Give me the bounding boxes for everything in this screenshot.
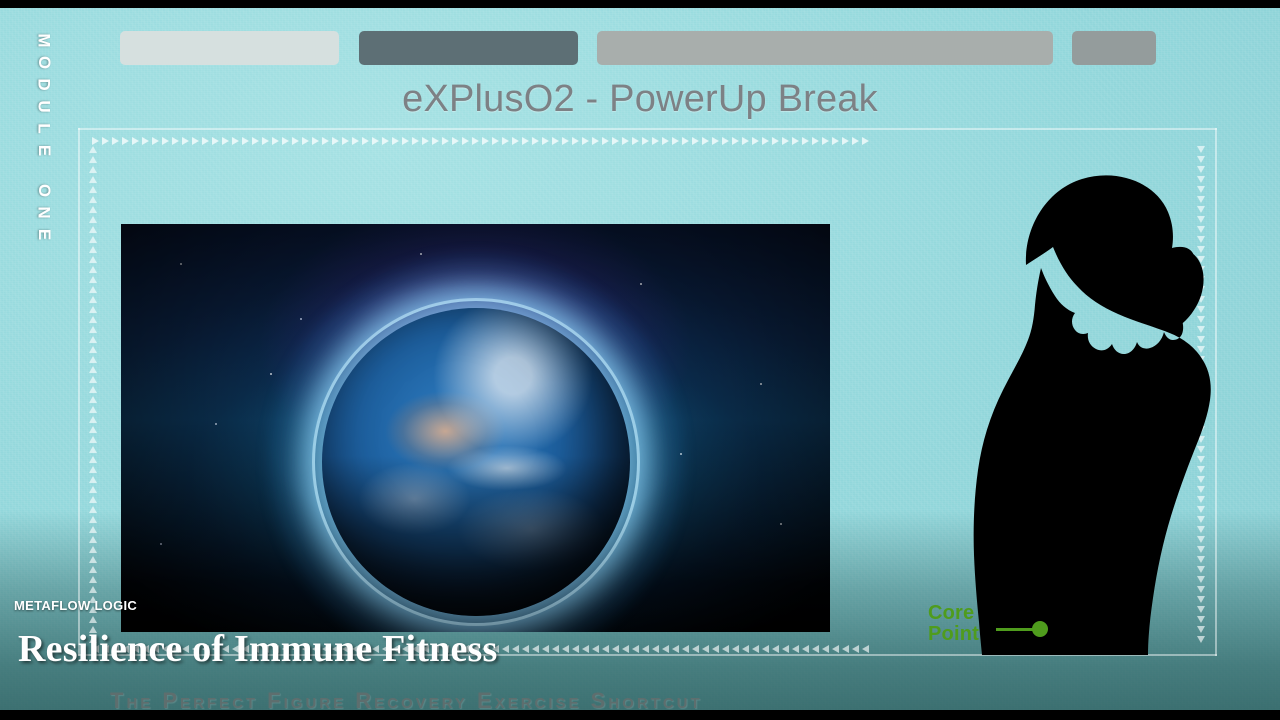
frame-triangle-icon [632,645,639,653]
frame-triangle-icon [89,226,97,233]
frame-triangle-icon [642,645,649,653]
frame-triangle-icon [89,466,97,473]
frame-triangle-icon [572,137,579,145]
frame-triangle-icon [322,137,329,145]
frame-triangle-icon [442,137,449,145]
frame-triangle-icon [492,137,499,145]
brand-name: METAFLOW LOGIC [14,598,137,613]
frame-triangle-icon [652,645,659,653]
frame-triangle-icon [452,137,459,145]
frame-triangle-icon [802,137,809,145]
frame-triangle-icon [232,137,239,145]
frame-triangle-icon [89,376,97,383]
letterbox-bottom [0,710,1280,720]
frame-triangle-icon [732,645,739,653]
frame-triangle-icon [192,137,199,145]
frame-triangle-icon [672,137,679,145]
video-vignette [121,224,830,632]
frame-triangle-icon [252,137,259,145]
frame-triangle-icon [282,137,289,145]
frame-triangle-icon [772,137,779,145]
frame-triangle-icon [532,645,539,653]
frame-triangle-icon [712,137,719,145]
module-label-letter: E [33,229,55,241]
frame-triangle-icon [612,645,619,653]
frame-triangle-icon [89,476,97,483]
frame-triangle-icon [92,137,99,145]
module-label-letter: N [33,206,55,219]
frame-triangle-icon [152,137,159,145]
frame-triangle-icon [89,386,97,393]
frame-triangle-icon [132,137,139,145]
frame-triangle-icon [482,137,489,145]
frame-triangle-icon [89,536,97,543]
frame-line-left [78,128,80,656]
frame-triangle-icon [272,137,279,145]
frame-triangle-icon [89,616,97,623]
frame-triangle-icon [542,137,549,145]
frame-triangle-icon [562,645,569,653]
frame-triangle-icon [702,137,709,145]
frame-triangle-icon [862,137,869,145]
frame-triangle-icon [612,137,619,145]
frame-triangle-icon [89,266,97,273]
frame-triangle-icon [532,137,539,145]
frame-triangle-icon [632,137,639,145]
frame-triangle-icon [662,137,669,145]
frame-triangle-icon [812,137,819,145]
frame-triangle-icon [142,137,149,145]
frame-triangle-icon [502,645,509,653]
frame-triangle-icon [89,426,97,433]
frame-triangle-icon [742,137,749,145]
frame-triangle-icon [682,137,689,145]
frame-triangle-icon [652,137,659,145]
frame-triangle-icon [782,645,789,653]
frame-triangle-icon [89,276,97,283]
frame-triangle-icon [462,137,469,145]
earth-video-panel[interactable] [121,224,830,632]
headline-text: Resilience of Immune Fitness [18,627,498,671]
frame-triangle-icon [802,645,809,653]
frame-triangle-icon [422,137,429,145]
frame-triangle-icon [812,645,819,653]
frame-triangle-icon [112,137,119,145]
frame-triangle-icon [89,556,97,563]
frame-triangle-icon [89,506,97,513]
slide-stage: MODULEONE eXPlusO2 - PowerUp Break Core … [0,0,1280,720]
frame-triangle-icon [832,645,839,653]
frame-triangle-icon [89,366,97,373]
frame-triangle-icon [89,346,97,353]
core-point-label-line1: Core [928,603,979,624]
frame-triangle-icon [312,137,319,145]
frame-triangle-icon [402,137,409,145]
frame-triangle-icon [89,196,97,203]
frame-triangle-icon [842,137,849,145]
module-label-letter: O [33,56,55,70]
frame-triangle-icon [212,137,219,145]
frame-triangle-icon [582,645,589,653]
frame-triangle-icon [352,137,359,145]
frame-triangle-icon [89,286,97,293]
frame-triangle-icon [692,645,699,653]
module-label-letter: L [33,123,55,134]
frame-triangle-icon [222,137,229,145]
frame-triangle-icon [792,645,799,653]
frame-triangle-icon [292,137,299,145]
frame-triangle-icon [89,316,97,323]
frame-triangle-icon [122,137,129,145]
frame-triangle-icon [782,137,789,145]
frame-triangle-icon [102,137,109,145]
frame-triangle-icon [302,137,309,145]
frame-triangle-icon [89,176,97,183]
frame-triangle-icon [182,137,189,145]
frame-triangle-icon [512,137,519,145]
frame-triangle-icon [682,645,689,653]
frame-triangle-icon [472,137,479,145]
frame-triangle-icon [89,436,97,443]
frame-triangle-icon [392,137,399,145]
frame-triangle-icon [512,645,519,653]
frame-triangle-icon [172,137,179,145]
frame-triangle-icon [89,186,97,193]
frame-triangle-icon [89,406,97,413]
frame-triangle-icon [89,356,97,363]
frame-triangle-icon [562,137,569,145]
frame-triangle-icon [242,137,249,145]
frame-triangle-icon [89,166,97,173]
frame-triangle-icon [89,246,97,253]
frame-triangle-icon [752,645,759,653]
frame-triangle-icon [832,137,839,145]
frame-triangles-left [88,146,98,646]
frame-triangle-icon [89,526,97,533]
module-label-letter: D [33,78,55,91]
top-segment-bar-3[interactable] [597,31,1053,65]
frame-triangle-icon [89,156,97,163]
frame-triangle-icon [89,256,97,263]
module-side-label: MODULEONE [24,30,64,246]
top-segment-bar-4[interactable] [1072,31,1156,65]
frame-triangle-icon [89,396,97,403]
frame-triangle-icon [662,645,669,653]
frame-triangle-icon [772,645,779,653]
frame-triangle-icon [89,456,97,463]
frame-triangle-icon [382,137,389,145]
core-point-marker-dot [1032,621,1048,637]
letterbox-top [0,0,1280,8]
frame-triangle-icon [262,137,269,145]
frame-triangle-icon [89,516,97,523]
frame-triangle-icon [89,146,97,153]
frame-triangle-icon [712,645,719,653]
frame-triangle-icon [552,645,559,653]
frame-triangle-icon [692,137,699,145]
frame-triangle-icon [762,137,769,145]
frame-triangle-icon [792,137,799,145]
top-segment-bar-1[interactable] [120,31,339,65]
frame-triangle-icon [732,137,739,145]
frame-triangle-icon [762,645,769,653]
frame-triangle-icon [89,336,97,343]
frame-triangle-icon [862,645,869,653]
frame-triangle-icon [502,137,509,145]
frame-triangle-icon [202,137,209,145]
frame-triangle-icon [89,296,97,303]
frame-triangle-icon [742,645,749,653]
frame-triangle-icon [522,645,529,653]
frame-triangle-icon [592,645,599,653]
frame-triangle-icon [722,645,729,653]
frame-triangle-icon [522,137,529,145]
frame-triangle-icon [162,137,169,145]
frame-triangle-icon [642,137,649,145]
frame-triangle-icon [89,566,97,573]
female-body-silhouette [940,150,1240,655]
frame-triangle-icon [89,496,97,503]
frame-triangle-icon [89,216,97,223]
frame-triangle-icon [89,576,97,583]
frame-triangle-icon [572,645,579,653]
frame-triangle-icon [752,137,759,145]
frame-triangle-icon [582,137,589,145]
core-point-label: Core Point [928,603,979,645]
frame-triangle-icon [362,137,369,145]
frame-triangle-icon [342,137,349,145]
frame-triangle-icon [622,137,629,145]
frame-triangle-icon [89,586,97,593]
frame-triangle-icon [332,137,339,145]
frame-triangle-icon [89,306,97,313]
frame-triangle-icon [89,446,97,453]
frame-triangle-icon [852,137,859,145]
frame-triangle-icon [542,645,549,653]
frame-triangles-top [92,136,1202,146]
frame-line-top [78,128,1217,130]
frame-triangle-icon [842,645,849,653]
frame-triangle-icon [852,645,859,653]
frame-triangle-icon [89,236,97,243]
frame-triangle-icon [432,137,439,145]
module-label-letter: O [33,184,55,198]
module-label-letter: M [33,33,55,48]
frame-triangle-icon [702,645,709,653]
frame-triangle-icon [602,137,609,145]
frame-triangle-icon [822,645,829,653]
frame-triangle-icon [89,326,97,333]
frame-triangle-icon [822,137,829,145]
frame-triangle-icon [592,137,599,145]
frame-triangle-icon [672,645,679,653]
module-label-letter: E [33,145,55,157]
frame-triangle-icon [602,645,609,653]
frame-triangle-icon [552,137,559,145]
core-point-label-line2: Point [928,624,979,645]
frame-triangle-icon [89,206,97,213]
frame-triangle-icon [89,416,97,423]
module-label-letter: U [33,100,55,113]
frame-triangle-icon [89,486,97,493]
page-title: eXPlusO2 - PowerUp Break [0,78,1280,121]
top-segment-bars[interactable] [0,31,1280,65]
frame-triangle-icon [372,137,379,145]
frame-triangle-icon [412,137,419,145]
frame-triangle-icon [622,645,629,653]
frame-triangle-icon [722,137,729,145]
top-segment-bar-2[interactable] [359,31,578,65]
frame-triangle-icon [89,546,97,553]
